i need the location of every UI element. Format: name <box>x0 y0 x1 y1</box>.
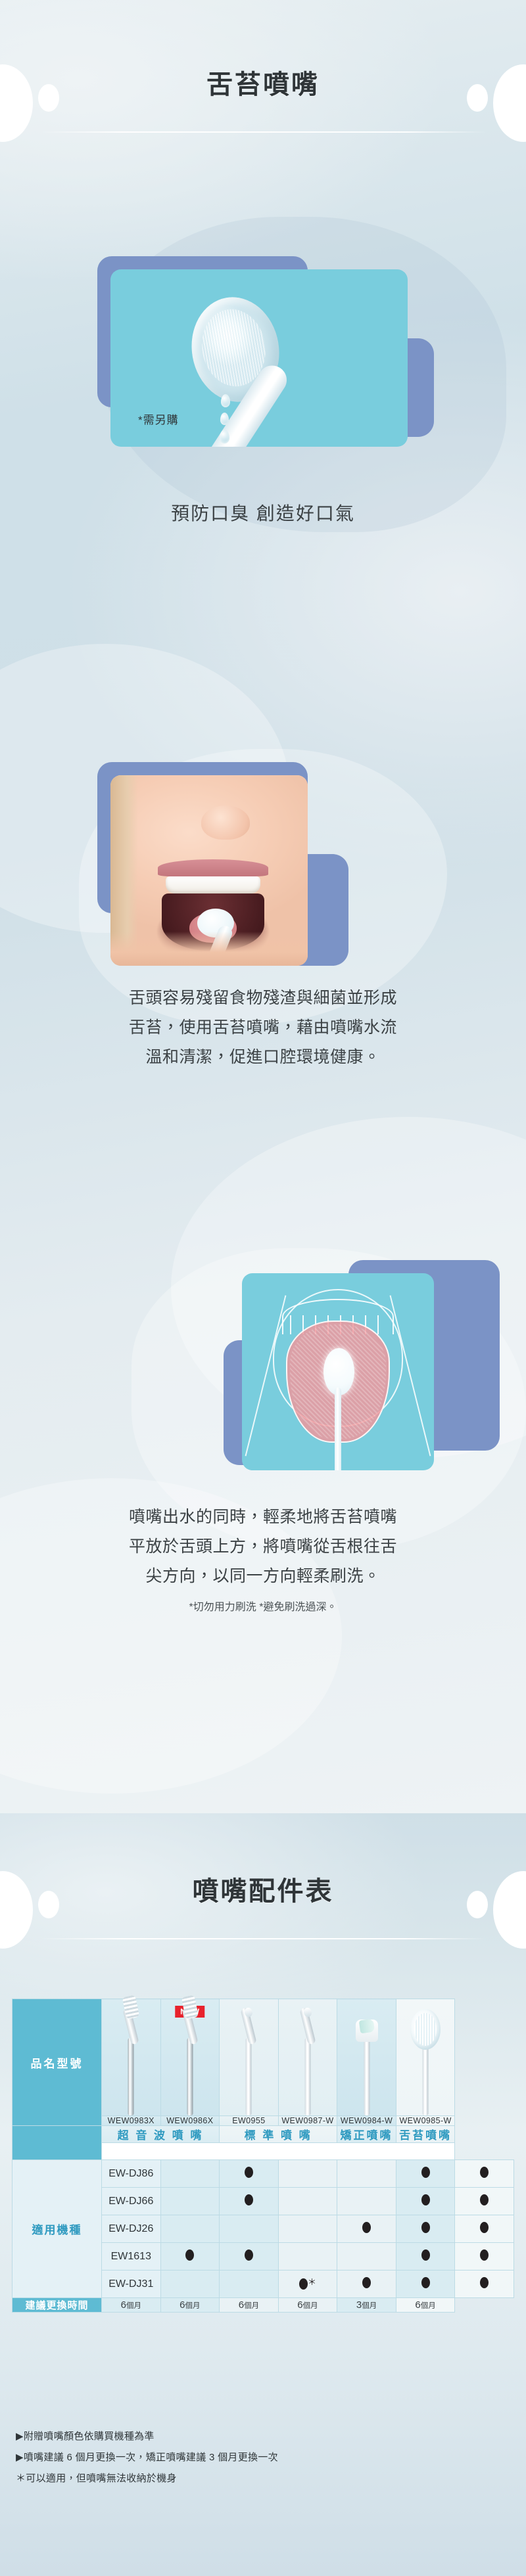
teeth-region <box>166 876 260 893</box>
type-group-tongue: 舌苔噴嘴 <box>396 2126 455 2143</box>
replacement-3: 6個月 <box>278 2298 337 2313</box>
cell-4-5 <box>455 2271 514 2298</box>
tagline-prevent-bad-breath: 預防口臭 創造好口氣 <box>0 499 526 528</box>
cell-3-3 <box>337 2243 396 2271</box>
product-detail-page: 舌苔噴嘴 *需另購 預防口臭 創造好口氣 <box>0 0 526 2576</box>
caution-note: *切勿用力刷洗 *避免刷洗過深。 <box>0 1600 526 1616</box>
product-cell-2 <box>220 1999 279 2116</box>
page-title: 舌苔噴嘴 <box>0 63 526 101</box>
cell-3-2 <box>278 2243 337 2271</box>
body-copy-why-line-2: 舌苔，使用舌苔噴嘴，藉由噴嘴水流 <box>0 1015 526 1041</box>
tongue-diagram-card <box>0 1242 526 1478</box>
cell-4-2: ＊ <box>278 2271 337 2298</box>
heading-rule <box>39 1938 487 1939</box>
model-number-2: EW0955 <box>220 2116 279 2126</box>
table-header-model-name: 品名型號 <box>12 1999 102 2126</box>
cell-1-3 <box>337 2188 396 2215</box>
replacement-unit-4: 個月 <box>362 2302 377 2310</box>
replacement-value-1: 6 <box>179 2299 185 2311</box>
replacement-value-0: 6 <box>121 2299 126 2311</box>
water-drop-icon <box>221 394 230 407</box>
table-header-replacement: 建議更換時間 <box>12 2298 102 2313</box>
replacement-4: 3個月 <box>337 2298 396 2313</box>
section-heading-tongue-nozzle: 舌苔噴嘴 <box>0 46 526 145</box>
cell-0-4 <box>396 2160 455 2188</box>
replacement-unit-0: 個月 <box>126 2302 141 2310</box>
replacement-value-4: 3 <box>356 2299 362 2311</box>
row-label-1: EW-DJ66 <box>102 2188 161 2215</box>
chin-region <box>110 932 308 966</box>
section-heading-accessory-table: 噴嘴配件表 <box>0 1853 526 1951</box>
cell-1-2 <box>278 2188 337 2215</box>
spacer-cell <box>12 2126 102 2160</box>
tongue-schematic-icon <box>242 1273 434 1470</box>
accessory-table-title: 噴嘴配件表 <box>0 1870 526 1908</box>
type-group-ortho: 矯正噴嘴 <box>337 2126 396 2143</box>
replacement-value-3: 6 <box>297 2299 302 2311</box>
footnote-0: ▶附贈噴嘴顏色依購買機種為準 <box>16 2431 513 2443</box>
row-label-3: EW1613 <box>102 2243 161 2271</box>
footnote-1: ▶噴嘴建議 6 個月更換一次，矯正噴嘴建議 3 個月更換一次 <box>16 2452 513 2464</box>
product-cell-5 <box>396 1999 455 2116</box>
product-cell-1: NEW <box>160 1999 220 2116</box>
nozzle-photo: *需另購 <box>110 269 408 447</box>
replacement-0: 6個月 <box>102 2298 161 2313</box>
cell-0-3 <box>337 2160 396 2188</box>
upper-lip-region <box>158 859 268 876</box>
replacement-unit-3: 個月 <box>303 2302 318 2310</box>
cell-2-5 <box>455 2215 514 2243</box>
replacement-2: 6個月 <box>220 2298 279 2313</box>
row-label-0: EW-DJ86 <box>102 2160 161 2188</box>
cell-3-5 <box>455 2243 514 2271</box>
mouth-illustration <box>110 775 308 966</box>
footnote-2: ＊可以適用，但噴嘴無法收納於機身 <box>16 2473 513 2485</box>
table-row-EW-DJ86: 適用機種 EW-DJ86 <box>12 2160 514 2188</box>
model-number-5: WEW0985-W <box>396 2116 455 2126</box>
body-copy-why-line-3: 溫和清潔，促進口腔環境健康。 <box>0 1045 526 1070</box>
row-label-2: EW-DJ26 <box>102 2215 161 2243</box>
row-label-4: EW-DJ31 <box>102 2271 161 2298</box>
cell-3-4 <box>396 2243 455 2271</box>
cell-2-3 <box>337 2215 396 2243</box>
accessory-table: 品名型號 NEW <box>12 1999 514 2313</box>
model-number-4: WEW0984-W <box>337 2116 396 2126</box>
cell-0-5 <box>455 2160 514 2188</box>
cell-1-5 <box>455 2188 514 2215</box>
body-copy-howto-line-1: 噴嘴出水的同時，輕柔地將舌苔噴嘴 <box>0 1504 526 1530</box>
replacement-unit-2: 個月 <box>244 2302 259 2310</box>
replacement-5: 6個月 <box>396 2298 455 2313</box>
spacer-band <box>102 2143 455 2160</box>
tongue-diagram <box>242 1273 434 1470</box>
heading-rule <box>39 131 487 133</box>
cell-2-1 <box>220 2215 279 2243</box>
water-drop-icon <box>220 430 229 443</box>
cell-4-3 <box>337 2271 396 2298</box>
body-copy-howto-line-3: 尖方向，以同一方向輕柔刷洗。 <box>0 1564 526 1589</box>
replacement-unit-5: 個月 <box>421 2302 436 2310</box>
cell-3-1 <box>220 2243 279 2271</box>
cell-1-0 <box>160 2188 220 2215</box>
cell-0-1 <box>220 2160 279 2188</box>
table-row-replacement: 建議更換時間 6個月 6個月 6個月 6個月 3個月 6個月 <box>12 2298 514 2313</box>
replacement-unit-1: 個月 <box>185 2302 201 2310</box>
body-copy-why-line-1: 舌頭容易殘留食物殘渣與細菌並形成 <box>0 985 526 1011</box>
product-image-card: *需另購 <box>0 217 526 453</box>
cell-0-0 <box>160 2160 220 2188</box>
cell-1-4 <box>396 2188 455 2215</box>
purchase-note: *需另購 <box>138 411 179 427</box>
cell-2-4 <box>396 2215 455 2243</box>
replacement-1: 6個月 <box>160 2298 220 2313</box>
product-cell-4 <box>337 1999 396 2116</box>
table-header-applicable-models: 適用機種 <box>12 2160 102 2298</box>
product-cell-0 <box>102 1999 161 2116</box>
model-number-0: WEW0983X <box>102 2116 161 2126</box>
replacement-value-5: 6 <box>415 2299 420 2311</box>
table-row-products: 品名型號 NEW <box>12 1999 514 2116</box>
accessory-table-wrapper: 品名型號 NEW <box>12 1999 514 2313</box>
product-cell-3 <box>278 1999 337 2116</box>
cell-4-0 <box>160 2271 220 2298</box>
cell-1-1 <box>220 2188 279 2215</box>
cell-4-1 <box>220 2271 279 2298</box>
water-drop-icon <box>220 413 229 425</box>
replacement-value-2: 6 <box>239 2299 244 2311</box>
type-group-ultrasonic: 超 音 波 噴 嘴 <box>102 2126 220 2143</box>
mouth-photo <box>110 775 308 966</box>
cell-2-2 <box>278 2215 337 2243</box>
nozzle-tip-stem-icon <box>335 1388 341 1470</box>
nose-region <box>201 805 250 840</box>
mouth-photo-card <box>0 762 526 979</box>
type-group-standard: 標 準 噴 嘴 <box>220 2126 337 2143</box>
table-row-type-groups: 超 音 波 噴 嘴 標 準 噴 嘴 矯正噴嘴 舌苔噴嘴 <box>12 2126 514 2143</box>
body-copy-howto-line-2: 平放於舌頭上方，將噴嘴從舌根往舌 <box>0 1534 526 1560</box>
cell-4-4 <box>396 2271 455 2298</box>
model-number-1: WEW0986X <box>160 2116 220 2126</box>
cell-0-2 <box>278 2160 337 2188</box>
model-number-3: WEW0987-W <box>278 2116 337 2126</box>
cell-2-0 <box>160 2215 220 2243</box>
footnotes: ▶附贈噴嘴顏色依購買機種為準 ▶噴嘴建議 6 個月更換一次，矯正噴嘴建議 3 個… <box>16 2431 513 2494</box>
cell-3-0 <box>160 2243 220 2271</box>
